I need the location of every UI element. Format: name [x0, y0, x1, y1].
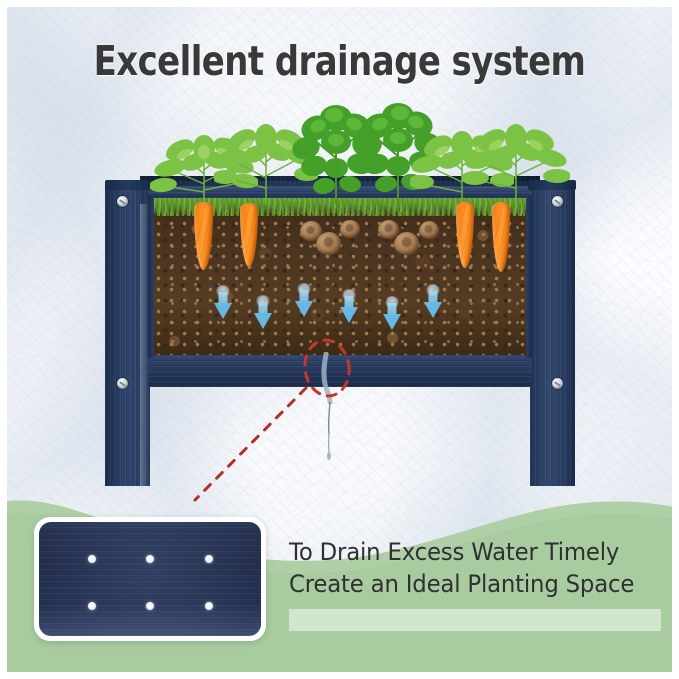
water-drainage-arrow-2 [254, 302, 272, 330]
drain-hole-3 [205, 555, 213, 563]
carrot-foliage-right-2 [462, 120, 570, 204]
screw-top-right [552, 196, 563, 207]
carrot-root-2 [240, 203, 258, 267]
carrot-root-4 [492, 202, 510, 272]
water-drainage-arrow-6 [424, 291, 442, 319]
potato-tuber-5 [394, 232, 419, 255]
caption-line-2: Create an Ideal Planting Space [289, 568, 642, 600]
water-drainage-arrow-1 [214, 292, 232, 320]
caption-highlight-bar [289, 609, 661, 631]
water-drip-stream [310, 352, 350, 462]
water-drainage-arrow-5 [383, 303, 401, 331]
drain-hole-1 [88, 555, 96, 563]
planter-post-front-left [105, 186, 150, 486]
potato-tuber-3 [340, 220, 360, 238]
water-drainage-arrow-3 [295, 290, 313, 318]
carrot-root-1 [194, 202, 213, 270]
planter-cap-left [105, 180, 153, 190]
screw-top-left [117, 196, 128, 207]
drain-hole-6 [205, 602, 213, 610]
caption-block: To Drain Excess Water Timely Create an I… [289, 536, 642, 600]
planter-base-panel [39, 522, 261, 636]
potato-tuber-6 [419, 221, 439, 239]
potato-tuber-2 [316, 232, 341, 255]
planter-inner-wall-left [148, 196, 154, 358]
planter-post-front-right [530, 186, 575, 486]
screw-bottom-right [552, 378, 563, 389]
drain-hole-2 [146, 555, 154, 563]
carrot-root-3 [456, 202, 474, 268]
screw-bottom-left [117, 378, 128, 389]
planter-inner-wall-right [526, 196, 532, 358]
page-title: Excellent drainage system [27, 37, 652, 85]
drainage-holes-inset-card[interactable] [34, 517, 266, 641]
drain-hole-4 [88, 602, 96, 610]
water-drainage-arrow-4 [340, 296, 358, 324]
caption-line-1: To Drain Excess Water Timely [289, 536, 642, 568]
infographic-canvas: Excellent drainage system [0, 0, 679, 679]
drain-hole-5 [146, 602, 154, 610]
